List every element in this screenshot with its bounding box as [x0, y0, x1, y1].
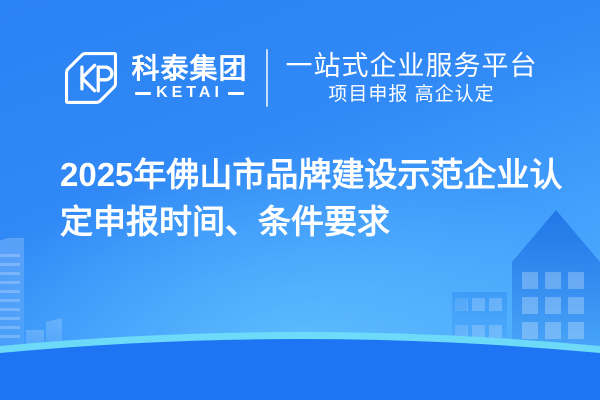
brand-name-en-row: KETAI: [135, 85, 244, 101]
page-title: 2025年佛山市品牌建设示范企业认定申报时间、条件要求: [60, 152, 576, 246]
brand-name-cn: 科泰集团: [131, 55, 247, 83]
brand-wordmark: 科泰集团 KETAI: [131, 55, 247, 101]
promo-banner: 科泰集团 KETAI 一站式企业服务平台 项目申报 高企认定 2025年佛山市品…: [0, 0, 600, 400]
bottom-arc-band: [0, 310, 600, 400]
tagline-sub: 项目申报 高企认定: [286, 85, 538, 104]
wordmark-rule-right: [228, 92, 244, 95]
brand-name-en: KETAI: [156, 85, 223, 101]
header-divider: [266, 49, 268, 107]
tagline-block: 一站式企业服务平台 项目申报 高企认定: [286, 53, 538, 104]
ketai-logo-icon: [62, 49, 120, 107]
wordmark-rule-left: [135, 92, 151, 95]
brand-lockup: 科泰集团 KETAI: [62, 49, 247, 107]
tagline-main: 一站式企业服务平台: [286, 53, 538, 80]
banner-header: 科泰集团 KETAI 一站式企业服务平台 项目申报 高企认定: [0, 38, 600, 118]
title-container: 2025年佛山市品牌建设示范企业认定申报时间、条件要求: [60, 152, 576, 246]
